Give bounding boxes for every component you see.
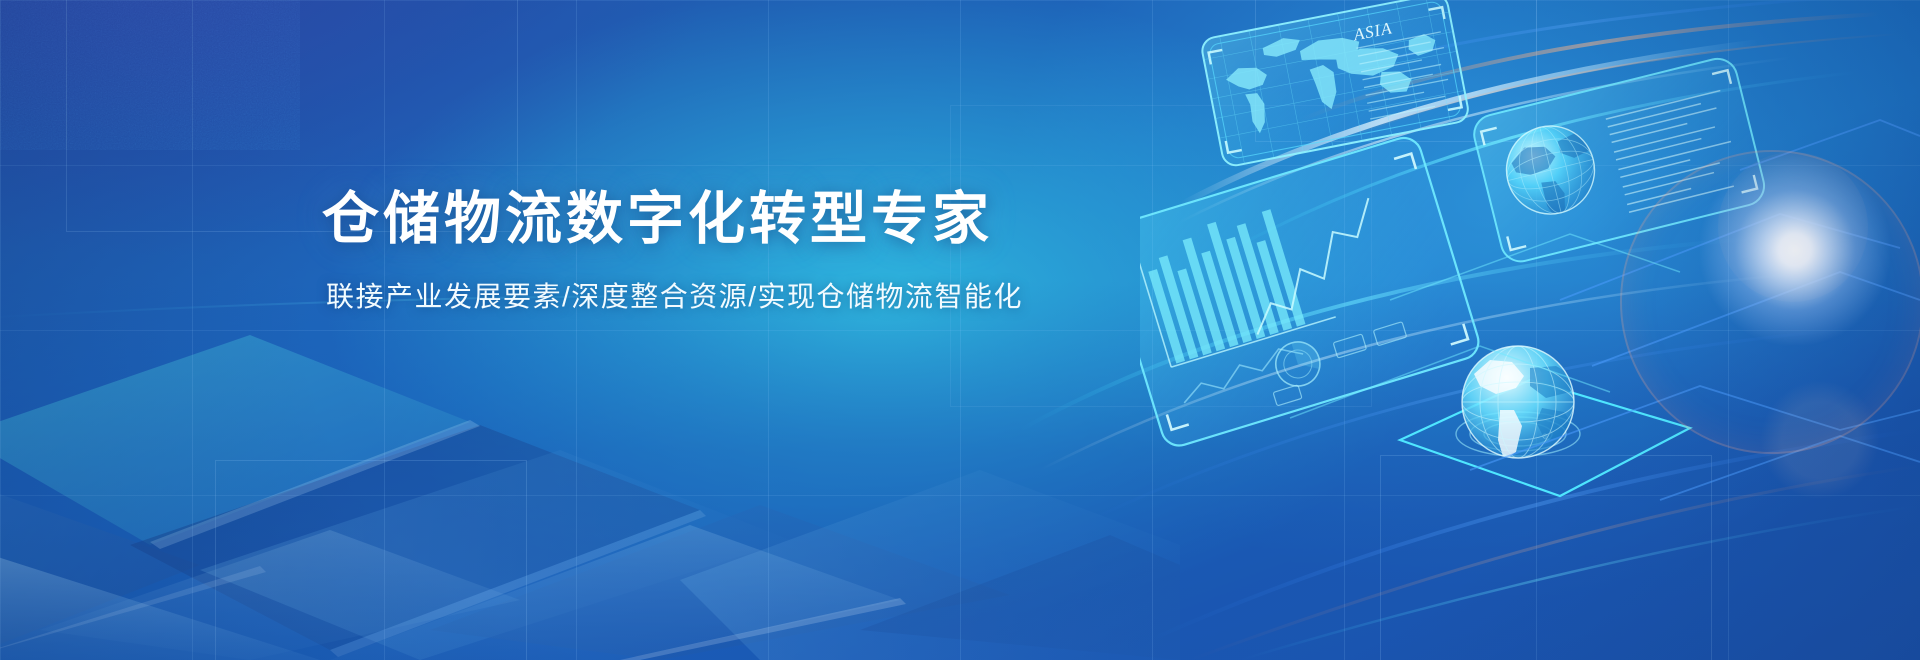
page-title: 仓储物流数字化转型专家 (322, 186, 1182, 253)
noise-texture (0, 0, 300, 150)
hero-text-block: 仓储物流数字化转型专家 联接产业发展要素/深度整合资源/实现仓储物流智能化 (322, 186, 1182, 316)
page-subtitle: 联接产业发展要素/深度整合资源/实现仓储物流智能化 (326, 279, 1182, 315)
world-map-panel: ASIA (1200, 0, 1470, 168)
lens-flare-core (1700, 155, 1890, 345)
lens-flare-ghost (1760, 380, 1880, 500)
hero-banner: ASIA (0, 0, 1920, 660)
analytics-panel (1140, 134, 1483, 450)
globe-hologram-large (1462, 346, 1574, 460)
